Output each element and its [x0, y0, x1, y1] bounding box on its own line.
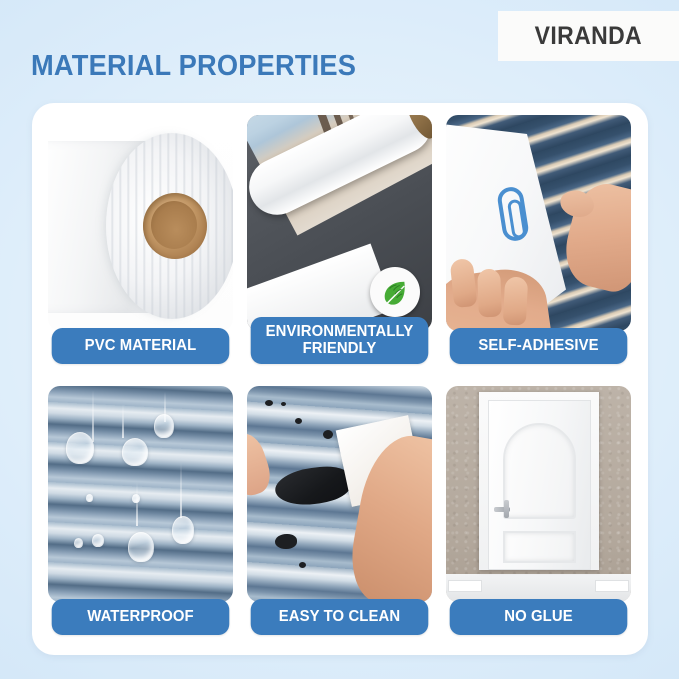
feature-label-text: ENVIRONMENTALLY FRIENDLY	[266, 324, 414, 356]
feature-image-self-adhesive	[446, 115, 631, 331]
feature-label-environmentally-friendly: ENVIRONMENTALLY FRIENDLY	[251, 317, 429, 364]
feature-card-pvc-material[interactable]: PVC MATERIAL	[48, 115, 233, 364]
feature-label-line2: FRIENDLY	[266, 341, 414, 357]
feature-card-no-glue[interactable]: NO GLUE	[446, 386, 631, 635]
feature-label-text: EASY TO CLEAN	[279, 609, 400, 625]
leaf-icon	[380, 277, 410, 307]
feature-image-no-glue	[446, 386, 631, 602]
baseboard	[446, 574, 631, 602]
door-frame	[479, 392, 599, 570]
feature-image-waterproof	[48, 386, 233, 602]
feature-label-text: SELF-ADHESIVE	[478, 338, 598, 354]
feature-label-text: WATERPROOF	[87, 609, 194, 625]
feature-label-easy-to-clean: EASY TO CLEAN	[251, 599, 429, 635]
feature-label-no-glue: NO GLUE	[450, 599, 628, 635]
features-panel: PVC MATERIAL	[32, 103, 648, 655]
feature-card-waterproof[interactable]: WATERPROOF	[48, 386, 233, 635]
infographic-root: VIRANDA MATERIAL PROPERTIES PVC MATERIAL	[0, 0, 679, 679]
page-title: MATERIAL PROPERTIES	[31, 50, 356, 83]
feature-label-line1: ENVIRONMENTALLY	[266, 323, 414, 340]
eco-badge	[370, 267, 420, 317]
brand-logo-badge: VIRANDA	[498, 11, 679, 61]
feature-image-easy-to-clean	[247, 386, 432, 602]
feature-card-self-adhesive[interactable]: SELF-ADHESIVE	[446, 115, 631, 364]
features-grid: PVC MATERIAL	[48, 115, 632, 635]
feature-label-text: PVC MATERIAL	[85, 338, 197, 354]
feature-card-environmentally-friendly[interactable]: ENVIRONMENTALLY FRIENDLY	[247, 115, 432, 364]
feature-label-pvc-material: PVC MATERIAL	[52, 328, 230, 364]
feature-image-pvc-material	[48, 115, 233, 331]
feature-label-self-adhesive: SELF-ADHESIVE	[450, 328, 628, 364]
door-handle-icon	[494, 507, 510, 512]
feature-label-waterproof: WATERPROOF	[52, 599, 230, 635]
feature-label-text: NO GLUE	[504, 609, 572, 625]
brand-logo-text: VIRANDA	[535, 22, 642, 51]
feature-image-environmentally-friendly	[247, 115, 432, 331]
feature-card-easy-to-clean[interactable]: EASY TO CLEAN	[247, 386, 432, 635]
door-leaf	[488, 400, 591, 570]
